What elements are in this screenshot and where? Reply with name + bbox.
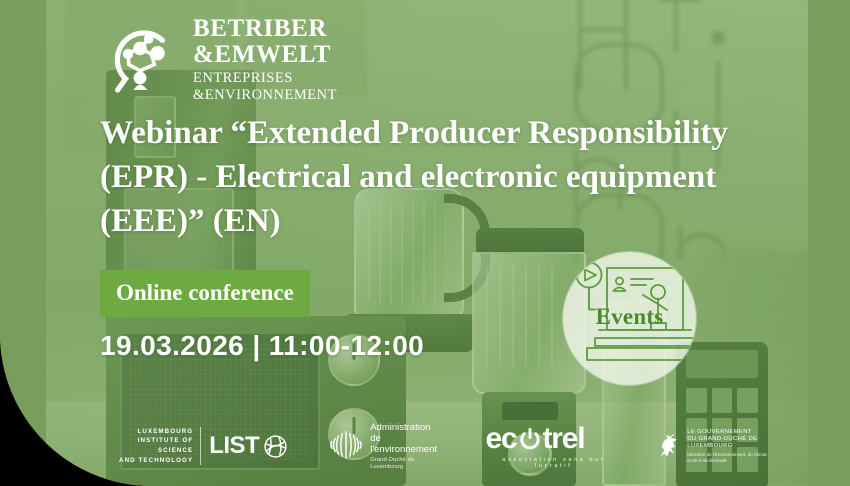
- aev-line-3: Grand-Duché de Luxembourg: [370, 457, 445, 470]
- event-datetime: 19.03.2026 | 11:00-12:00: [100, 330, 424, 362]
- brand-lockup: BETRIBER &EMWELT ENTREPRISES &ENVIRONNEM…: [100, 14, 337, 102]
- logo-ecotrel: ec trel association sans but lucratif: [486, 424, 622, 469]
- list-tagline-1: LUXEMBOURG: [110, 427, 193, 437]
- gouv-line-2: DU GRAND-DUCHÉ DE LUXEMBOURG: [687, 436, 798, 451]
- logo-list: LUXEMBOURG INSTITUTE OF SCIENCE AND TECH…: [110, 423, 288, 469]
- power-button-icon: [518, 427, 542, 451]
- aev-line-2: de l'environnement: [370, 433, 445, 455]
- brand-line-1: BETRIBER: [193, 16, 337, 41]
- brand-line-2: &EMWELT: [193, 42, 337, 67]
- ecotrel-wordmark-a: ec: [486, 424, 517, 454]
- brand-line-3: ENTREPRISES: [193, 71, 337, 86]
- globe-sphere-icon: [263, 434, 288, 459]
- gouv-line-1: LE GOUVERNEMENT: [687, 429, 798, 436]
- list-tagline-3: AND TECHNOLOGY: [110, 456, 193, 466]
- brand-line-4: &ENVIRONNEMENT: [193, 88, 337, 103]
- partner-logo-strip: LUXEMBOURG INSTITUTE OF SCIENCE AND TECH…: [110, 420, 798, 472]
- logo-administration-environnement: Administration de l'environnement Grand-…: [330, 422, 445, 471]
- event-title: Webinar “Extended Producer Responsibilit…: [100, 112, 760, 244]
- event-banner: BETRIBER &EMWELT ENTREPRISES &ENVIRONNEM…: [0, 0, 850, 486]
- list-wordmark: LIST: [209, 432, 259, 460]
- list-tagline-2: INSTITUTE OF SCIENCE: [110, 436, 193, 455]
- events-badge-label: Events: [563, 304, 696, 330]
- online-conference-badge: Online conference: [100, 270, 310, 317]
- logo-gouvernement-luxembourg: LE GOUVERNEMENT DU GRAND-DUCHÉ DE LUXEMB…: [656, 429, 798, 464]
- network-circle-logo-icon: [100, 18, 180, 98]
- events-badge: Events: [563, 252, 696, 385]
- ecotrel-wordmark-b: trel: [543, 424, 585, 454]
- gouv-line-4: et de la Biodiversité: [687, 458, 798, 464]
- lion-rampant-icon: [656, 431, 681, 461]
- ecotrel-tagline: association sans but lucratif: [486, 457, 622, 469]
- radiating-arcs-icon: [330, 429, 362, 463]
- aev-line-1: Administration: [370, 422, 445, 433]
